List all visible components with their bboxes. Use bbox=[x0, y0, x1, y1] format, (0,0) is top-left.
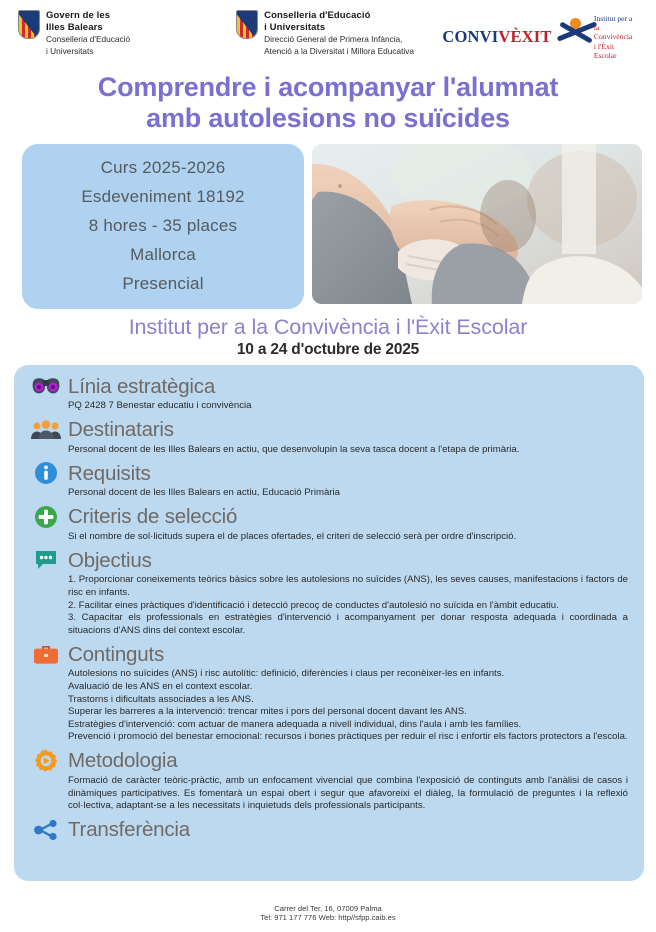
section-header: Línia estratègica bbox=[24, 373, 630, 399]
institute-name: Institut per a la Convivència i l'Èxit E… bbox=[0, 315, 656, 340]
logo-convivexit: CONVIVÈXIT Institut per a la Convivència… bbox=[442, 14, 636, 60]
section-transferencia: Transferència bbox=[24, 817, 630, 848]
govern-sub2: i Universitats bbox=[46, 46, 130, 57]
section-title: Criteris de selecció bbox=[68, 504, 237, 529]
convivexit-sub1: Institut per a bbox=[594, 14, 636, 23]
balearic-crest-icon bbox=[18, 10, 40, 39]
balearic-crest-icon bbox=[236, 10, 258, 39]
info-circle-icon bbox=[30, 460, 62, 486]
chat-bubble-icon bbox=[30, 547, 62, 573]
footer-address: Carrer del Ter, 16, 07009 Palma bbox=[0, 904, 656, 914]
convivexit-word-part2: VÈXIT bbox=[498, 27, 551, 46]
section-linia-estrategica: Línia estratègica PQ 2428 7 Benestar edu… bbox=[24, 373, 630, 417]
section-metodologia: Metodologia Formació de caràcter teòric-… bbox=[24, 748, 630, 817]
page-title: Comprendre i acompanyar l'alumnat amb au… bbox=[0, 68, 656, 134]
convivexit-subtitle: Institut per a la Convivència i l'Èxit E… bbox=[594, 14, 636, 60]
section-title: Requisits bbox=[68, 461, 151, 486]
course-info-box: Curs 2025-2026 Esdeveniment 18192 8 hore… bbox=[22, 144, 304, 309]
section-title: Línia estratègica bbox=[68, 374, 215, 399]
section-requisits: Requisits Personal docent de les Illes B… bbox=[24, 460, 630, 504]
plus-circle-icon bbox=[30, 504, 62, 530]
section-header: Requisits bbox=[24, 460, 630, 486]
course-modality: Presencial bbox=[32, 269, 294, 298]
section-header: Objectius bbox=[24, 547, 630, 573]
section-body: Formació de caràcter teòric-pràctic, amb… bbox=[24, 774, 630, 817]
course-dates: 10 a 24 d'octubre de 2025 bbox=[0, 341, 656, 359]
section-header: Continguts bbox=[24, 641, 630, 667]
course-year: Curs 2025-2026 bbox=[32, 153, 294, 182]
section-body: PQ 2428 7 Benestar educatiu i convivènci… bbox=[24, 399, 630, 417]
convivexit-sub3: i l'Èxit Escolar bbox=[594, 42, 636, 60]
course-photo bbox=[312, 144, 642, 304]
section-body: 1. Proporcionar coneixements teòrics bàs… bbox=[24, 573, 630, 641]
section-header: Transferència bbox=[24, 817, 630, 843]
conselleria-line1: Conselleria d'Educació bbox=[264, 10, 414, 22]
hand-on-shoulder-support-photo bbox=[312, 144, 642, 304]
course-event-id: Esdeveniment 18192 bbox=[32, 182, 294, 211]
footer-contact: Tel: 971 177 776 Web: http//sfpp.caib.es bbox=[0, 913, 656, 923]
section-header: Metodologia bbox=[24, 748, 630, 774]
binoculars-icon bbox=[30, 373, 62, 399]
conselleria-sub2: Atenció a la Diversitat i Millora Educat… bbox=[264, 46, 414, 57]
section-destinataris: Destinataris Personal docent de les Ille… bbox=[24, 417, 630, 461]
convivexit-sub2: la Convivència bbox=[594, 23, 636, 41]
convivexit-word-part1: CONVI bbox=[442, 27, 498, 46]
section-body: Personal docent de les Illes Balears en … bbox=[24, 486, 630, 504]
section-title: Destinataris bbox=[68, 417, 174, 442]
section-title: Objectius bbox=[68, 548, 152, 573]
section-body: Autolesions no suïcides (ANS) i risc aut… bbox=[24, 667, 630, 748]
section-header: Destinataris bbox=[24, 417, 630, 443]
section-body bbox=[24, 843, 630, 848]
header-logos: Govern de les Illes Balears Conselleria … bbox=[0, 0, 656, 68]
govern-line2: Illes Balears bbox=[46, 22, 130, 34]
briefcase-icon bbox=[30, 641, 62, 667]
convivexit-wordmark: CONVIVÈXIT bbox=[442, 27, 551, 47]
logo-conselleria-educacio: Conselleria d'Educació i Universitats Di… bbox=[236, 10, 442, 56]
conselleria-sub1: Direcció General de Primera Infància, bbox=[264, 34, 414, 45]
section-objectius: Objectius 1. Proporcionar coneixements t… bbox=[24, 547, 630, 641]
section-header: Criteris de selecció bbox=[24, 504, 630, 530]
conselleria-line2: i Universitats bbox=[264, 22, 414, 34]
footer: Carrer del Ter, 16, 07009 Palma Tel: 971… bbox=[0, 904, 656, 923]
logo-govern-illes-balears: Govern de les Illes Balears Conselleria … bbox=[18, 10, 194, 56]
gear-icon bbox=[30, 748, 62, 774]
section-title: Transferència bbox=[68, 817, 190, 842]
section-continguts: Continguts Autolesions no suïcides (ANS)… bbox=[24, 641, 630, 748]
course-info-row: Curs 2025-2026 Esdeveniment 18192 8 hore… bbox=[0, 134, 656, 309]
page-title-line1: Comprendre i acompanyar l'alumnat bbox=[40, 72, 616, 103]
section-body: Si el nombre de sol·licituds supera el d… bbox=[24, 530, 630, 548]
page-title-line2: amb autolesions no suïcides bbox=[40, 103, 616, 134]
govern-sub1: Conselleria d'Educació bbox=[46, 34, 130, 45]
people-group-icon bbox=[30, 417, 62, 443]
course-hours-places: 8 hores - 35 places bbox=[32, 211, 294, 240]
share-nodes-icon bbox=[30, 817, 62, 843]
section-body: Personal docent de les Illes Balears en … bbox=[24, 443, 630, 461]
govern-line1: Govern de les bbox=[46, 10, 130, 22]
section-title: Metodologia bbox=[68, 748, 178, 773]
section-title: Continguts bbox=[68, 642, 164, 667]
convivexit-swoosh-icon bbox=[554, 17, 596, 57]
course-location: Mallorca bbox=[32, 240, 294, 269]
section-criteris-de-seleccio: Criteris de selecció Si el nombre de sol… bbox=[24, 504, 630, 548]
content-panel: Línia estratègica PQ 2428 7 Benestar edu… bbox=[14, 365, 644, 881]
